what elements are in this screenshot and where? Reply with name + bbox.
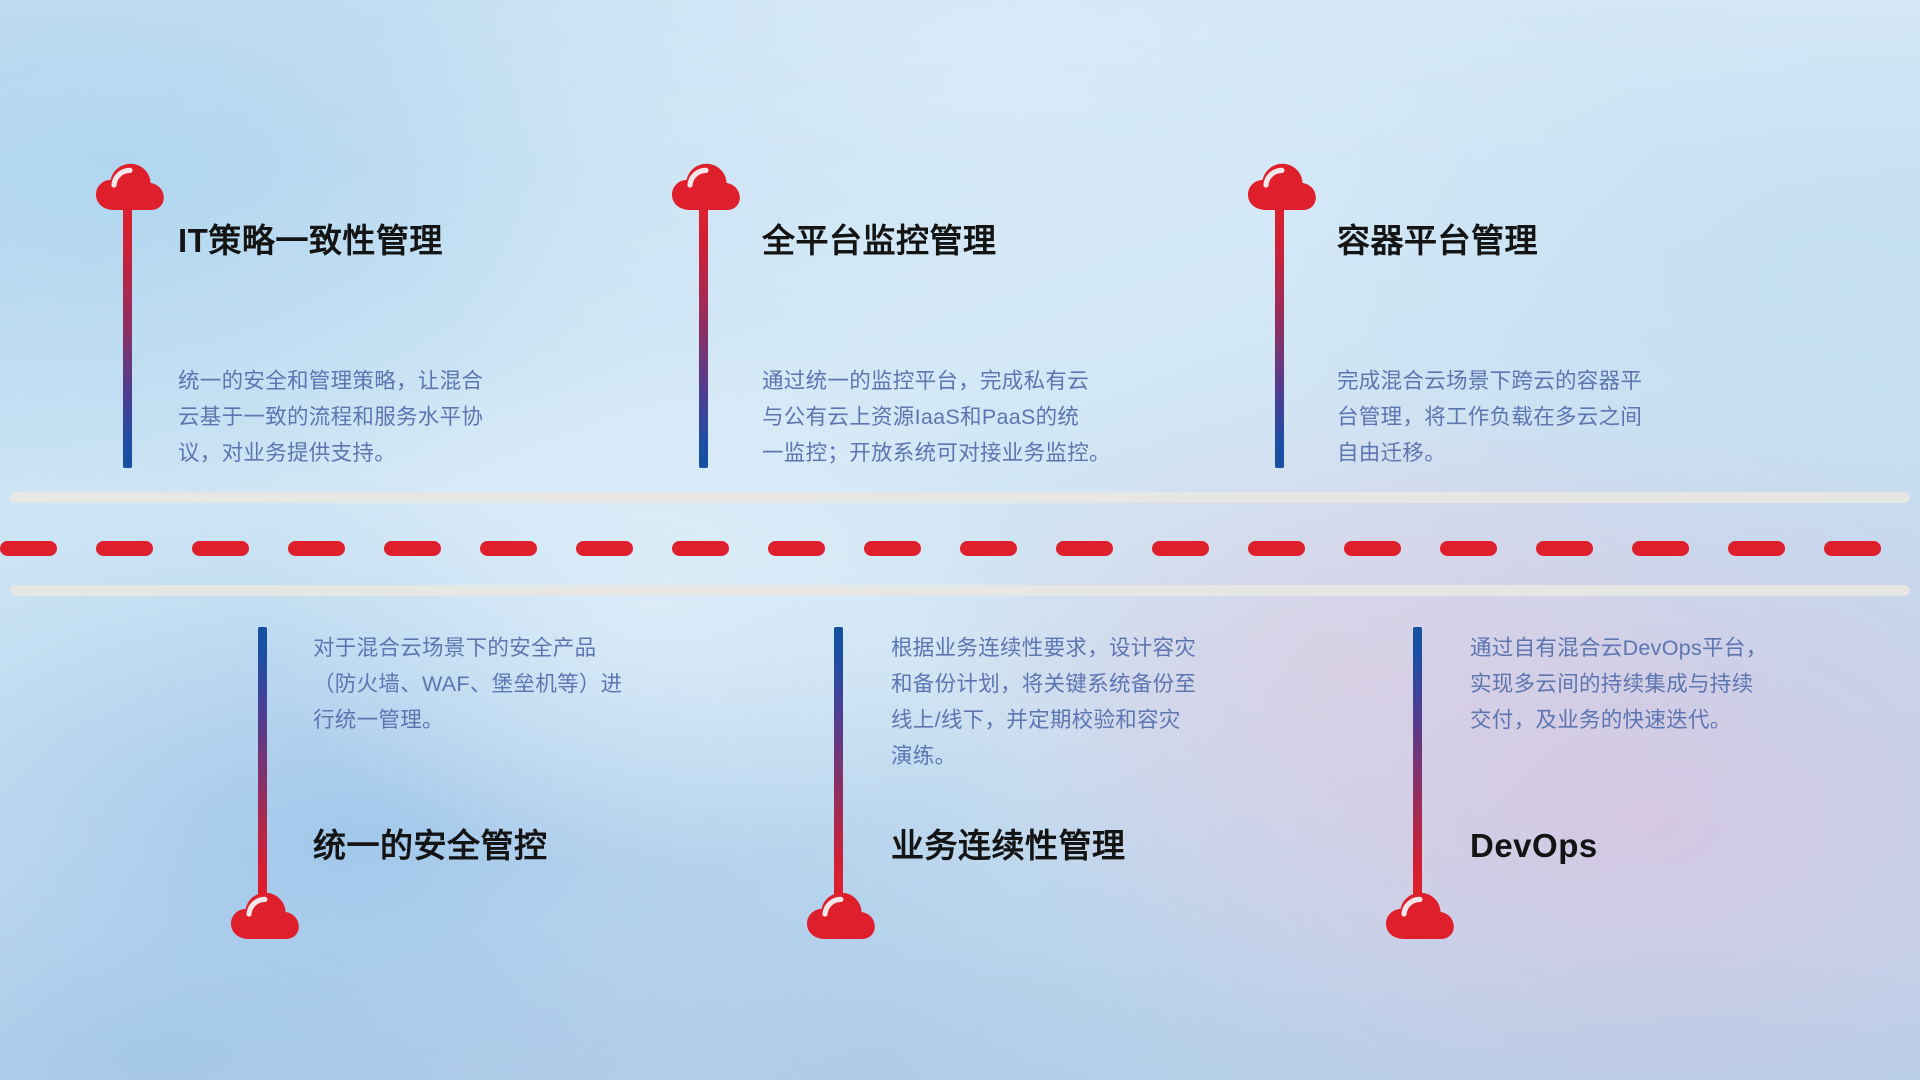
dash-segment xyxy=(864,541,921,556)
column-stem xyxy=(258,627,267,897)
dash-segment xyxy=(384,541,441,556)
column-title: 容器平台管理 xyxy=(1337,224,1538,257)
column-body-text: 通过统一的监控平台，完成私有云 与公有云上资源IaaS和PaaS的统 一监控；开… xyxy=(762,363,1212,471)
dash-segment xyxy=(1152,541,1209,556)
dash-segment xyxy=(1824,541,1881,556)
dash-segment xyxy=(288,541,345,556)
dash-segment xyxy=(96,541,153,556)
dash-segment xyxy=(1632,541,1689,556)
column-body-text: 根据业务连续性要求，设计容灾 和备份计划，将关键系统备份至 线上/线下，并定期校… xyxy=(891,630,1321,774)
column-title: 业务连续性管理 xyxy=(891,829,1126,862)
dash-segment xyxy=(1536,541,1593,556)
cloud-icon xyxy=(805,888,877,940)
column-title: DevOps xyxy=(1470,829,1598,862)
column-title: 全平台监控管理 xyxy=(762,224,997,257)
dash-segment xyxy=(576,541,633,556)
red-dashed-rule xyxy=(0,541,1920,556)
column-title: IT策略一致性管理 xyxy=(178,224,443,257)
column-stem xyxy=(834,627,843,897)
cloud-icon xyxy=(1384,888,1456,940)
dash-segment xyxy=(1056,541,1113,556)
column-stem xyxy=(1413,627,1422,897)
column-stem xyxy=(123,196,132,468)
column-stem xyxy=(1275,196,1284,468)
top-solid-rule xyxy=(10,492,1910,503)
dash-segment xyxy=(192,541,249,556)
dash-segment xyxy=(672,541,729,556)
infographic-canvas: IT策略一致性管理 统一的安全和管理策略，让混合 云基于一致的流程和服务水平协 … xyxy=(0,0,1920,1080)
column-stem xyxy=(699,196,708,468)
dash-segment xyxy=(1344,541,1401,556)
bottom-solid-rule xyxy=(10,585,1910,596)
column-body-text: 通过自有混合云DevOps平台， 实现多云间的持续集成与持续 交付，及业务的快速… xyxy=(1470,630,1890,738)
column-body-text: 完成混合云场景下跨云的容器平 台管理，将工作负载在多云之间 自由迁移。 xyxy=(1337,363,1777,471)
column-body-text: 对于混合云场景下的安全产品 （防火墙、WAF、堡垒机等）进 行统一管理。 xyxy=(313,630,743,738)
dash-segment xyxy=(1728,541,1785,556)
column-title: 统一的安全管控 xyxy=(313,829,548,862)
dash-segment xyxy=(960,541,1017,556)
dash-segment xyxy=(0,541,57,556)
dash-segment xyxy=(1248,541,1305,556)
cloud-icon xyxy=(229,888,301,940)
dash-segment xyxy=(1440,541,1497,556)
dash-segment xyxy=(480,541,537,556)
column-body-text: 统一的安全和管理策略，让混合 云基于一致的流程和服务水平协 议，对业务提供支持。 xyxy=(178,363,608,471)
dash-segment xyxy=(768,541,825,556)
